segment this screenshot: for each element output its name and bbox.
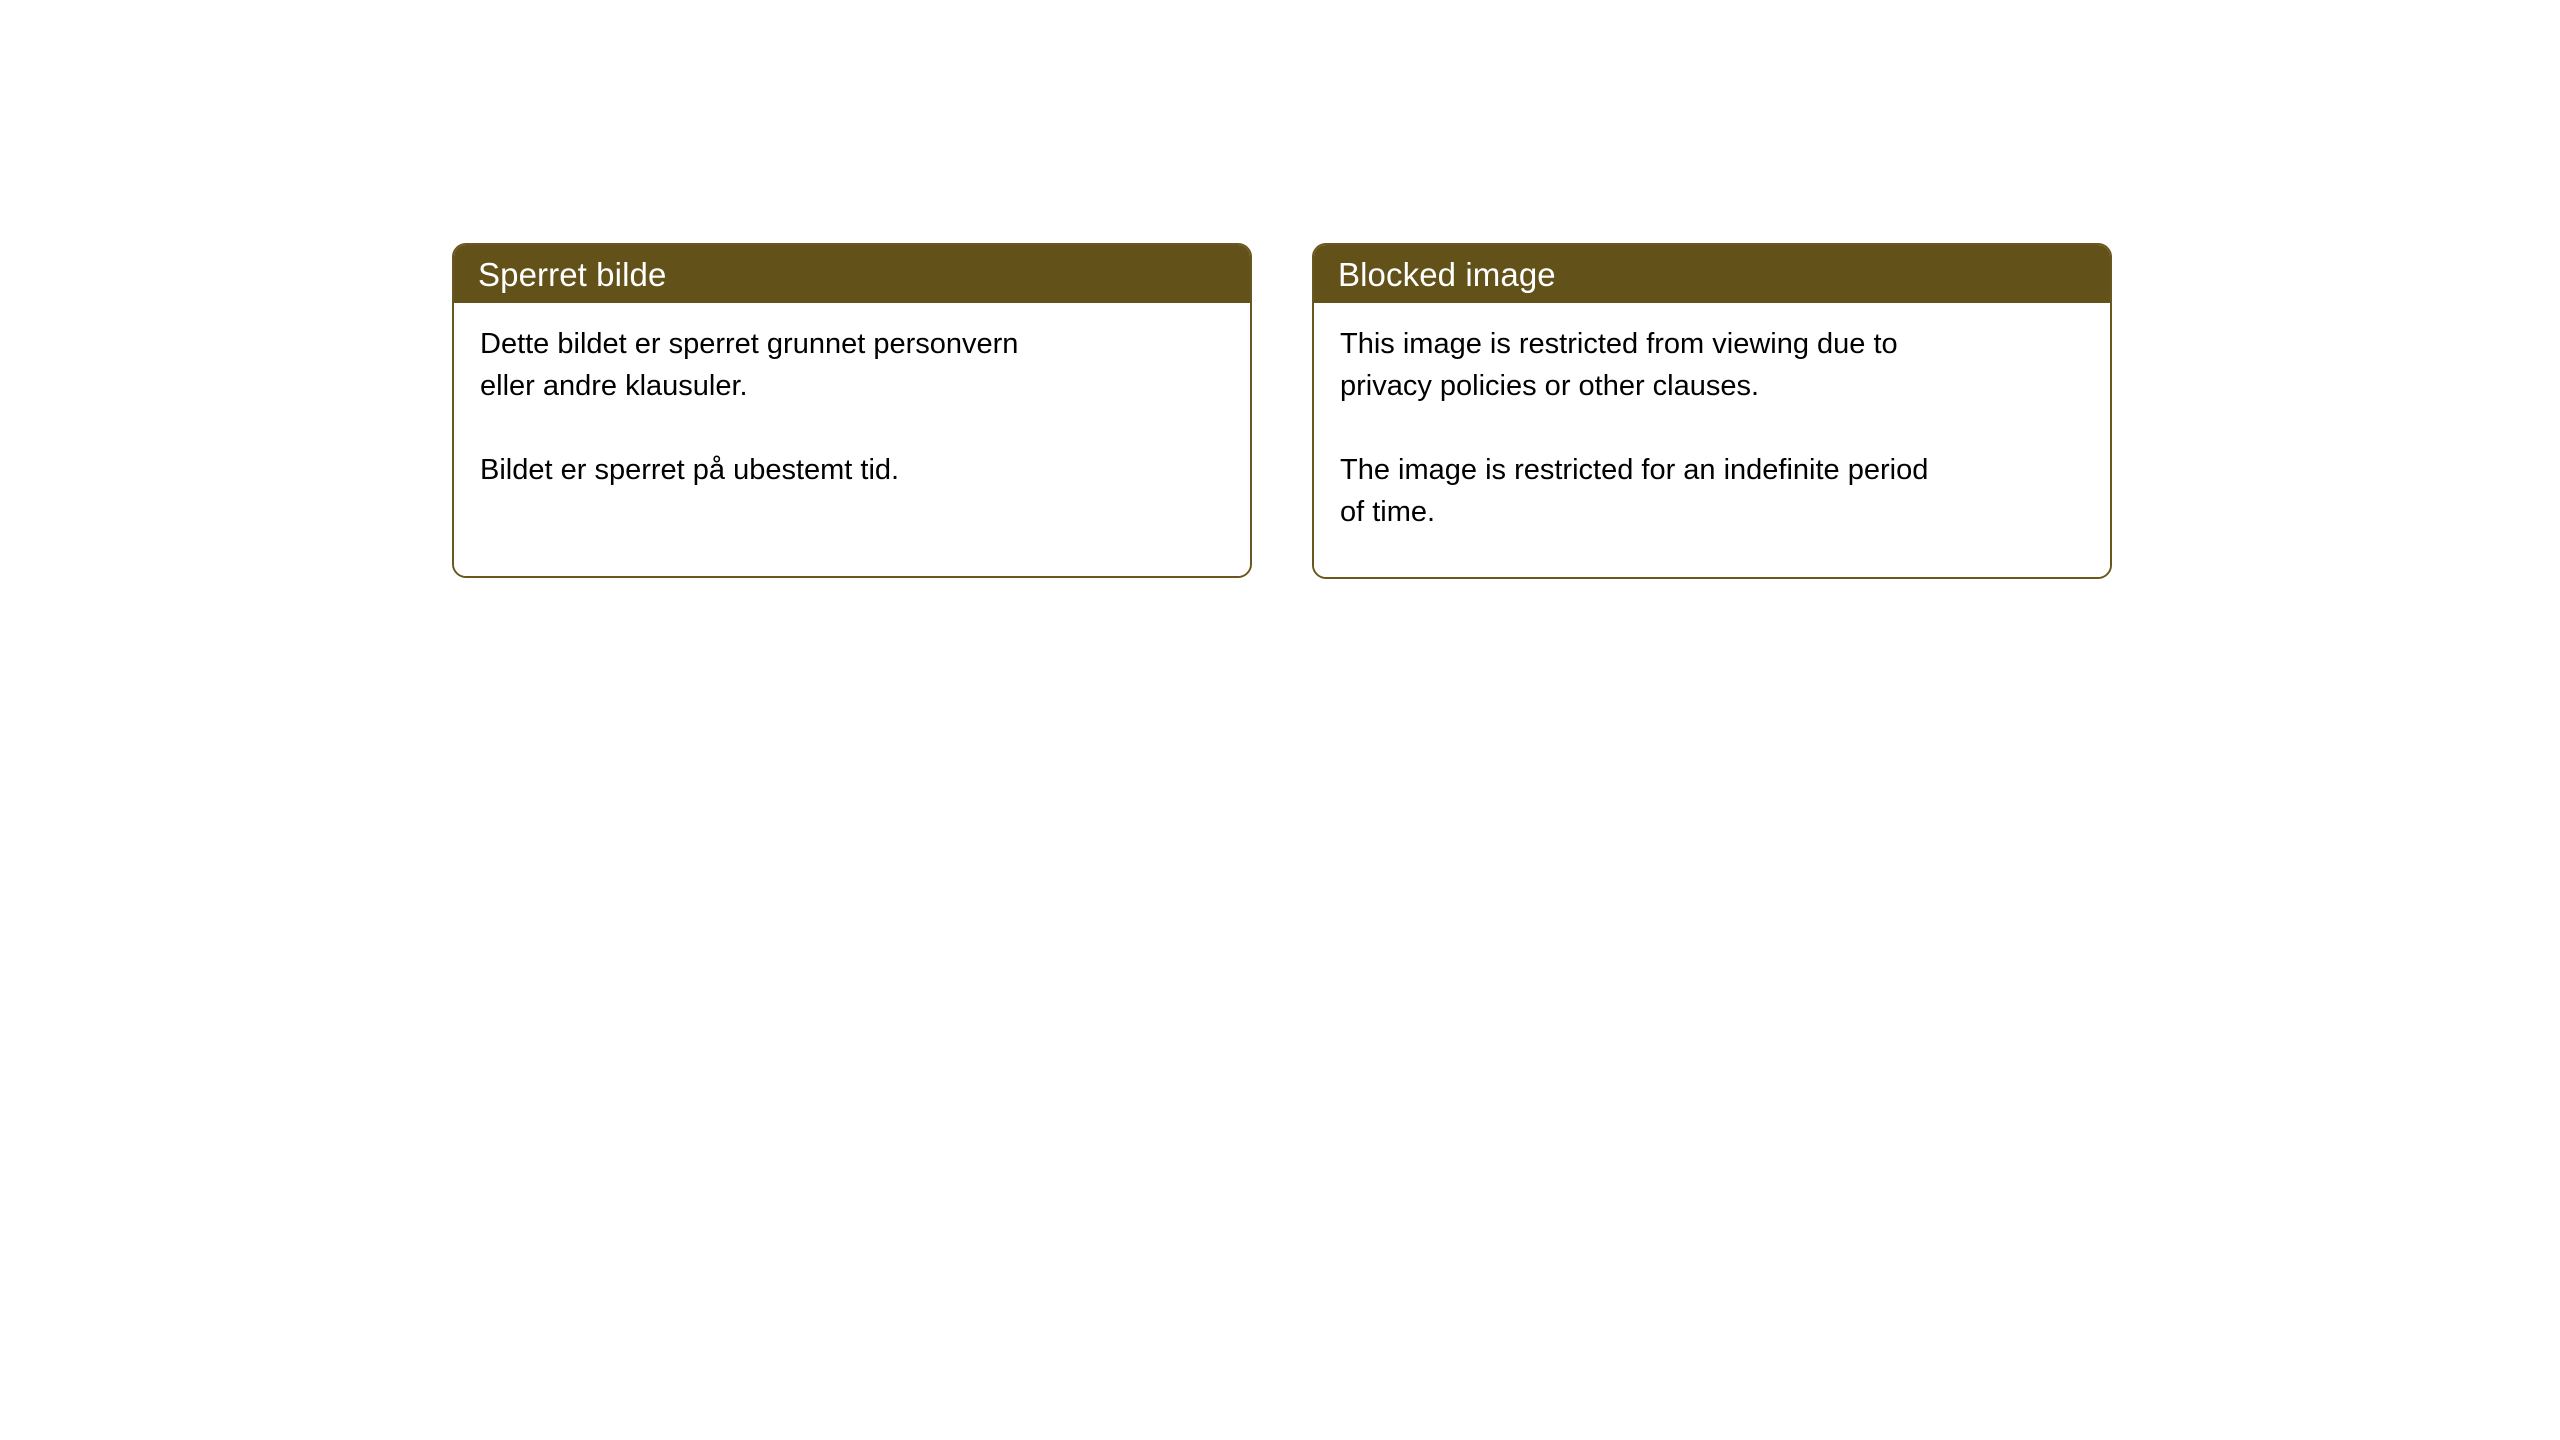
card-title-en: Blocked image — [1338, 258, 1556, 291]
blocked-image-notice-no: Sperret bilde Dette bildet er sperret gr… — [452, 243, 1252, 578]
card-header-no: Sperret bilde — [454, 245, 1250, 303]
card-paragraph-en-1: This image is restricted from viewing du… — [1340, 323, 2084, 407]
card-body-en: This image is restricted from viewing du… — [1314, 303, 2110, 577]
card-paragraph-no-1: Dette bildet er sperret grunnet personve… — [480, 323, 1224, 407]
card-body-no: Dette bildet er sperret grunnet personve… — [454, 303, 1250, 576]
card-paragraph-en-2: The image is restricted for an indefinit… — [1340, 449, 2084, 533]
page-canvas: Sperret bilde Dette bildet er sperret gr… — [0, 0, 2560, 1440]
blocked-image-notice-en: Blocked image This image is restricted f… — [1312, 243, 2112, 579]
card-paragraph-no-2: Bildet er sperret på ubestemt tid. — [480, 449, 1224, 491]
card-title-no: Sperret bilde — [478, 258, 666, 291]
card-header-en: Blocked image — [1314, 245, 2110, 303]
